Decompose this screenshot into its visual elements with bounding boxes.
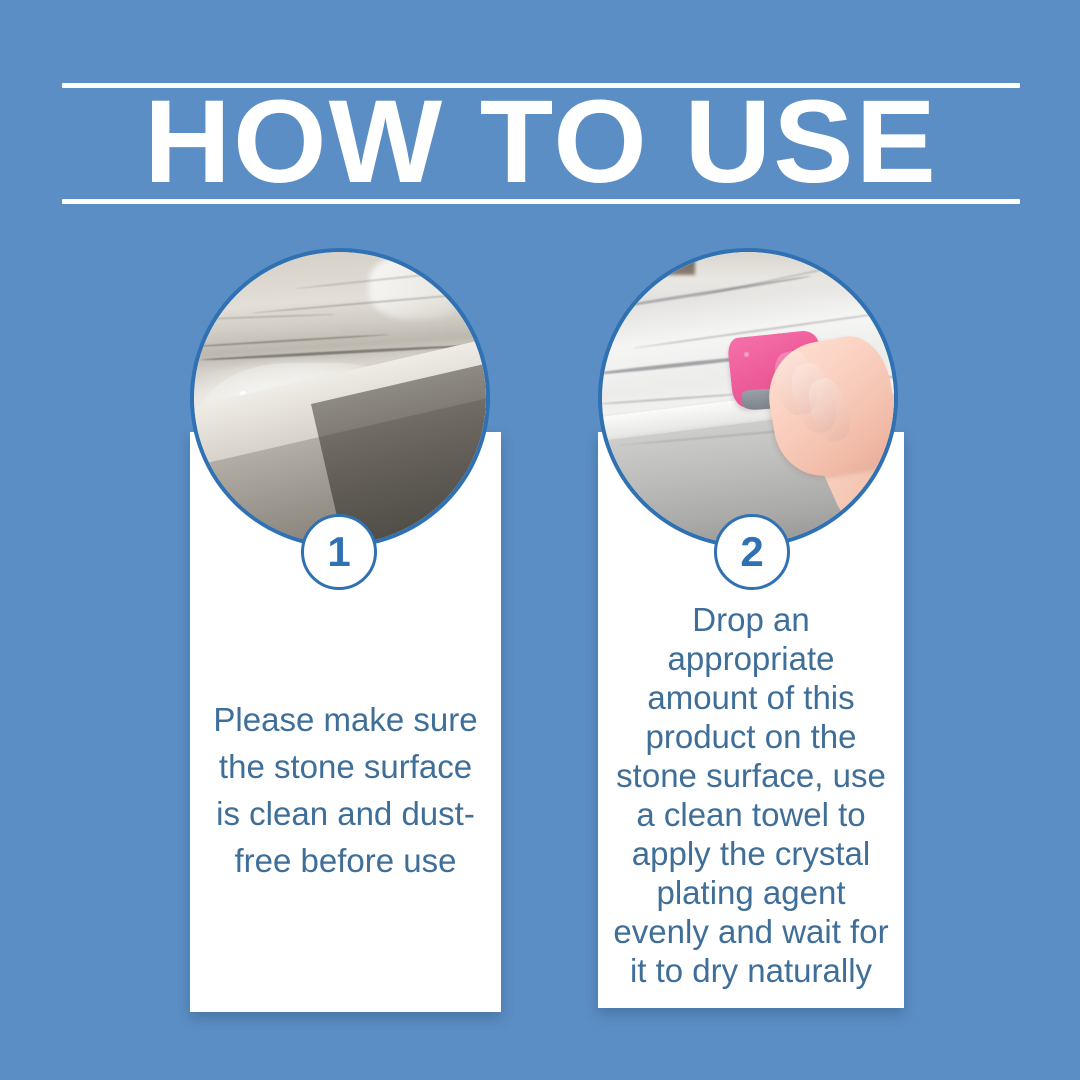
background-shadow-graphic bbox=[631, 252, 695, 275]
step-2-description: Drop an appropriate amount of this produ… bbox=[598, 600, 904, 990]
title-rule-bottom bbox=[62, 199, 1020, 204]
step-1-photo bbox=[190, 248, 490, 548]
how-to-use-infographic: HOW TO USE 1 Please make sure the stone … bbox=[0, 0, 1080, 1080]
step-1-description: Please make sure the stone surface is cl… bbox=[190, 696, 501, 884]
step-2-photo bbox=[598, 248, 898, 548]
step-number-badge-1: 1 bbox=[301, 514, 377, 590]
header: HOW TO USE bbox=[62, 78, 1020, 208]
step-2-photo-image bbox=[602, 252, 894, 544]
page-title: HOW TO USE bbox=[52, 84, 1029, 200]
step-1-photo-image bbox=[194, 252, 486, 544]
marble-highlight-graphic bbox=[369, 255, 468, 319]
step-number-badge-2: 2 bbox=[714, 514, 790, 590]
